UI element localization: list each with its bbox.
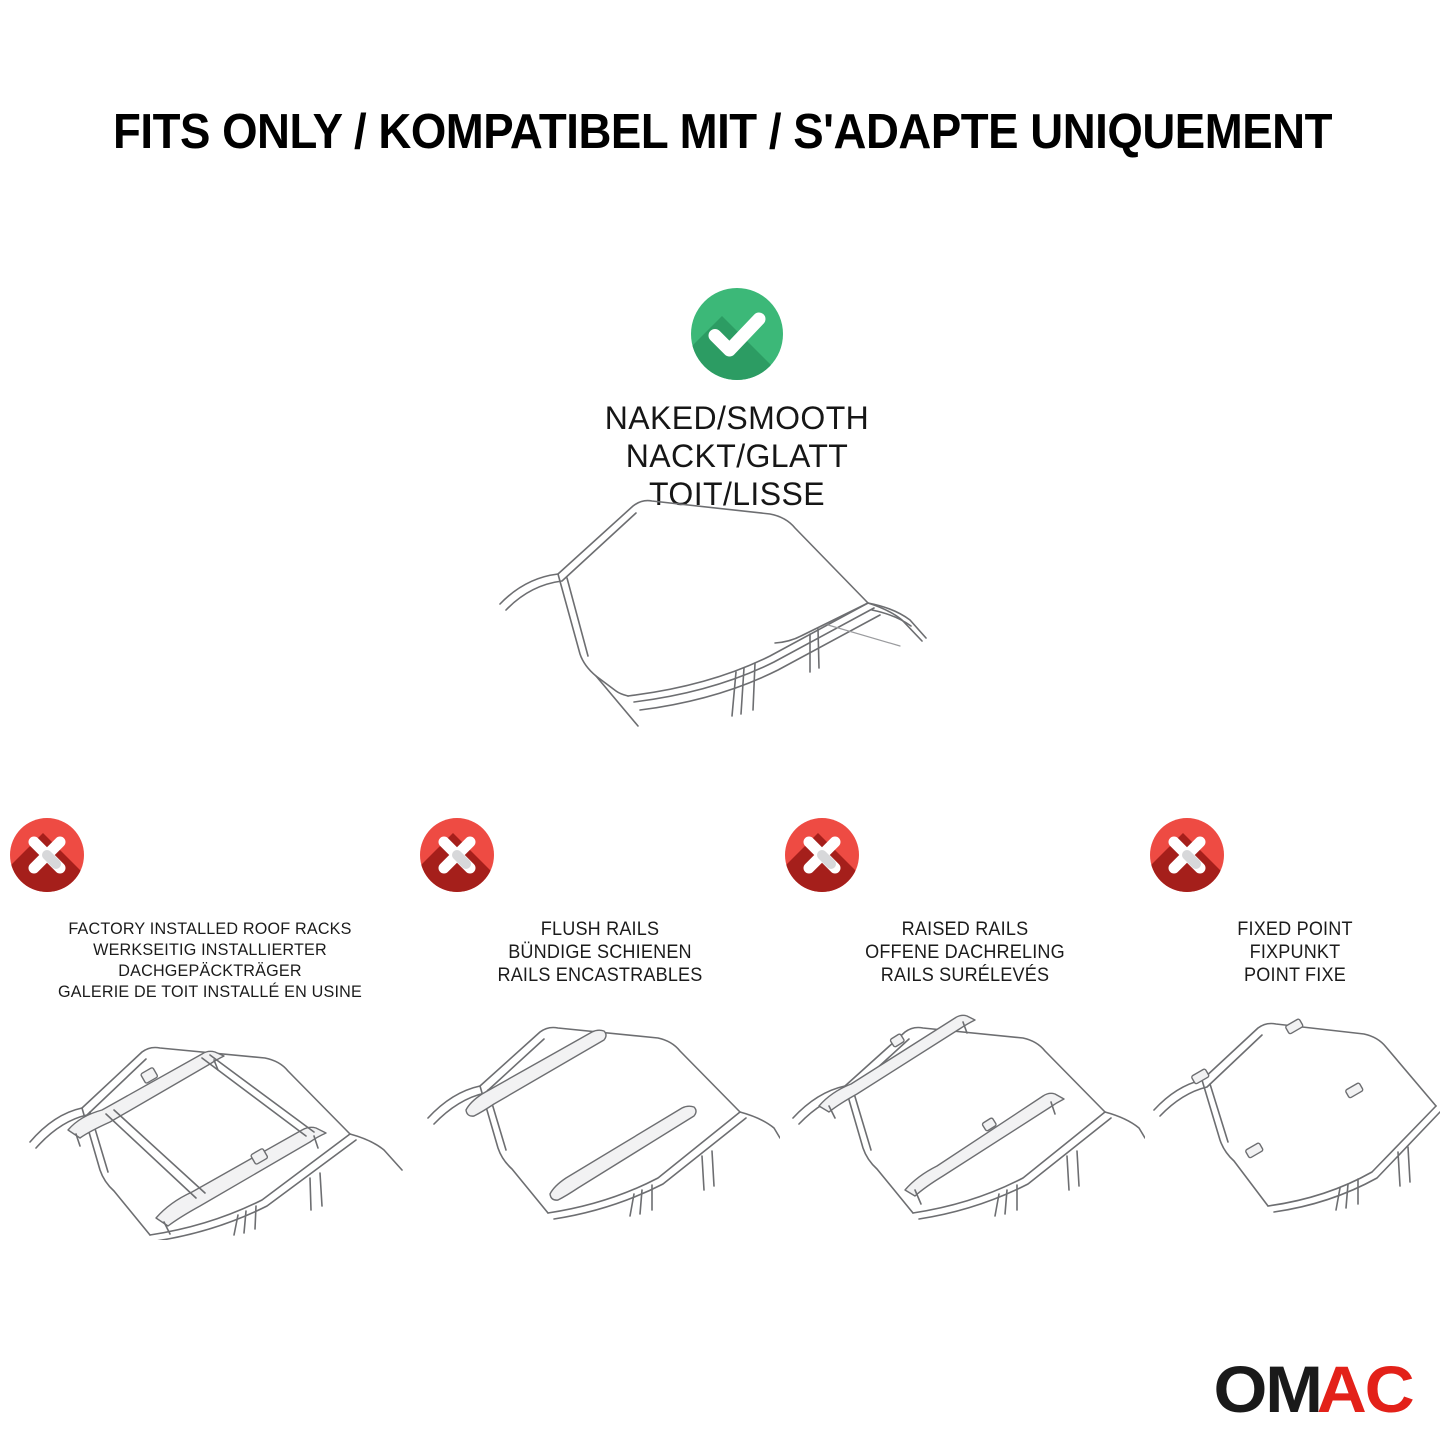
label-line-3: RAILS ENCASTRABLES [429,964,771,987]
logo-text-dark: OM [1214,1358,1321,1420]
car-roof-fixed-point-illustration [1150,1014,1440,1224]
incompatible-labels: RAISED RAILS OFFENE DACHRELING RAILS SUR… [794,918,1136,987]
label-line-1: FACTORY INSTALLED ROOF RACKS [20,918,400,939]
incompatible-column-fixed-point: FIXED POINT FIXPUNKT POINT FIXE [1150,818,1440,987]
x-circle-icon [420,818,494,892]
x-circle-icon [1150,818,1224,892]
logo-text-red: AC [1316,1358,1412,1420]
compatible-block: NAKED/SMOOTH NACKT/GLATT TOIT/LISSE [472,288,1002,513]
incompatible-labels: FLUSH RAILS BÜNDIGE SCHIENEN RAILS ENCAS… [429,918,771,987]
check-circle-icon-wrap [691,288,783,380]
x-circle-icon-wrap [785,818,1145,910]
label-line-1: RAISED RAILS [794,918,1136,941]
page-title: FITS ONLY / KOMPATIBEL MIT / S'ADAPTE UN… [51,104,1395,160]
car-roof-naked-smooth-illustration [470,486,1010,746]
x-circle-icon-wrap [10,818,410,910]
label-line-2: FIXPUNKT [1157,941,1433,964]
car-roof-raised-rails-illustration [785,1014,1145,1224]
label-line-1: FLUSH RAILS [429,918,771,941]
incompatible-column-flush-rails: FLUSH RAILS BÜNDIGE SCHIENEN RAILS ENCAS… [420,818,780,987]
x-circle-icon-wrap [420,818,780,910]
label-line-3: RAILS SURÉLEVÉS [794,964,1136,987]
incompatible-labels: FACTORY INSTALLED ROOF RACKS WERKSEITIG … [20,918,400,1002]
x-circle-icon [10,818,84,892]
compatible-label-en: NAKED/SMOOTH [472,399,1002,437]
compatible-label-de: NACKT/GLATT [472,437,1002,475]
label-line-2: BÜNDIGE SCHIENEN [429,941,771,964]
label-line-1: FIXED POINT [1157,918,1433,941]
check-circle-icon [691,288,783,380]
label-line-3: DACHGEPÄCKTRÄGER [20,960,400,981]
incompatible-labels: FIXED POINT FIXPUNKT POINT FIXE [1157,918,1433,987]
label-line-3: POINT FIXE [1157,964,1433,987]
incompatible-column-factory-roof-racks: FACTORY INSTALLED ROOF RACKS WERKSEITIG … [10,818,410,1002]
label-line-4: GALERIE DE TOIT INSTALLÉ EN USINE [20,981,400,1002]
label-line-2: OFFENE DACHRELING [794,941,1136,964]
omac-logo: OMAC [1216,1358,1410,1420]
incompatible-column-raised-rails: RAISED RAILS OFFENE DACHRELING RAILS SUR… [785,818,1145,987]
car-roof-flush-rails-illustration [420,1014,780,1224]
label-line-2: WERKSEITIG INSTALLIERTER [20,939,400,960]
x-circle-icon [785,818,859,892]
fitment-chart-graphic: FITS ONLY / KOMPATIBEL MIT / S'ADAPTE UN… [0,0,1445,1445]
x-circle-icon-wrap [1150,818,1440,910]
car-roof-factory-racks-illustration [10,1030,410,1240]
